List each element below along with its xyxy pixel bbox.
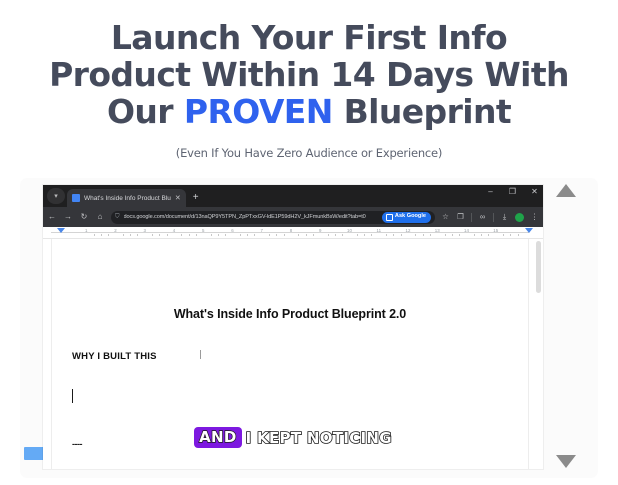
- ruler-right-indent-marker[interactable]: [525, 228, 533, 233]
- address-bar-url: docs.google.com/document/d/13naQP9Y5TPN_…: [124, 214, 378, 220]
- ruler-number: 7: [261, 228, 263, 233]
- ruler-tick: [152, 234, 153, 236]
- minimize-button[interactable]: –: [486, 188, 495, 196]
- ruler-tick: [123, 234, 124, 236]
- ruler-tick: [371, 234, 372, 236]
- caption-highlight-word: AND: [194, 427, 242, 448]
- headline-line-3-suffix: Blueprint: [333, 92, 511, 131]
- ruler-tick: [313, 234, 314, 236]
- ruler-tick: [510, 234, 511, 236]
- ruler-number: 12: [406, 228, 411, 233]
- ruler-number: 11: [376, 228, 381, 233]
- kebab-menu-icon[interactable]: ⋮: [530, 213, 539, 221]
- ruler-tick: [488, 234, 489, 236]
- downloads-icon[interactable]: ⤓: [500, 213, 509, 221]
- ruler-tick: [386, 234, 387, 236]
- ruler-number: 13: [435, 228, 440, 233]
- docs-canvas: What's Inside Info Product Blueprint 2.0…: [43, 239, 543, 469]
- ruler-tick: [130, 234, 131, 236]
- ruler-tick: [298, 234, 299, 236]
- ruler-number: 9: [319, 228, 321, 233]
- browser-toolbar: ← → ↻ ⌂ ⛉ docs.google.com/document/d/13n…: [43, 207, 543, 227]
- scroll-down-triangle-icon[interactable]: [556, 455, 576, 468]
- caption-overlay: AND I KEPT NOTICING: [43, 427, 543, 448]
- browser-tab-strip: ▾ What's Inside Info Product Blu ✕ + – ❐…: [43, 185, 543, 207]
- ruler-tick: [452, 234, 453, 236]
- maximize-button[interactable]: ❐: [508, 188, 517, 196]
- headline-accent-word: PROVEN: [184, 92, 333, 131]
- ruler-tick: [357, 234, 358, 236]
- ruler-tick: [335, 234, 336, 236]
- ruler-tick: [328, 234, 329, 236]
- sparkle-icon: [386, 214, 393, 221]
- ask-google-label: Ask Google: [395, 214, 426, 220]
- toolbar-divider-2: [493, 213, 494, 222]
- ruler-tick: [240, 234, 241, 236]
- headline-line-1: Launch Your First Info: [111, 18, 507, 57]
- hero-section: Launch Your First Info Product Within 14…: [0, 0, 618, 160]
- ruler-left-indent-marker[interactable]: [57, 228, 65, 233]
- ruler-tick: [459, 234, 460, 236]
- docs-favicon-icon: [72, 194, 80, 202]
- docs-ruler[interactable]: 123456789101112131415: [43, 227, 543, 239]
- ruler-tick: [137, 234, 138, 236]
- ruler-number: 3: [144, 228, 146, 233]
- ruler-tick: [518, 234, 519, 236]
- toolbar-divider: [471, 213, 472, 222]
- ruler-tick: [415, 234, 416, 236]
- close-icon[interactable]: ✕: [175, 195, 181, 202]
- ruler-tick: [430, 234, 431, 236]
- document-title: What's Inside Info Product Blueprint 2.0: [52, 307, 528, 321]
- ruler-tick: [254, 234, 255, 236]
- ruler-tick: [269, 234, 270, 236]
- ruler-tick: [481, 234, 482, 236]
- ruler-tick: [196, 234, 197, 236]
- ruler-tick: [101, 234, 102, 236]
- ruler-tick: [342, 234, 343, 236]
- ruler-number: 1: [85, 228, 87, 233]
- ruler-tick: [218, 234, 219, 236]
- ruler-tick: [306, 234, 307, 236]
- ruler-tick: [284, 234, 285, 236]
- new-tab-button[interactable]: +: [193, 193, 199, 203]
- document-heading: WHY I BUILT THIS: [72, 351, 157, 362]
- window-controls: – ❐ ✕: [486, 188, 539, 196]
- browser-tab-title: What's Inside Info Product Blu: [84, 195, 171, 202]
- ruler-tick: [247, 234, 248, 236]
- ruler-number: 6: [231, 228, 233, 233]
- caption-text: I KEPT NOTICING: [246, 429, 392, 447]
- ruler-tick: [503, 234, 504, 236]
- close-window-button[interactable]: ✕: [530, 188, 539, 196]
- chevron-down-icon[interactable]: ▾: [47, 188, 65, 204]
- ruler-number: 8: [290, 228, 292, 233]
- ruler-tick: [401, 234, 402, 236]
- scroll-up-triangle-icon[interactable]: [556, 184, 576, 197]
- ruler-tick: [94, 234, 95, 236]
- ruler-tick: [189, 234, 190, 236]
- browser-tab-active[interactable]: What's Inside Info Product Blu ✕: [67, 189, 186, 207]
- subheadline: (Even If You Have Zero Audience or Exper…: [30, 146, 588, 160]
- ask-google-button[interactable]: Ask Google: [382, 212, 431, 223]
- ruler-number: 5: [202, 228, 204, 233]
- ruler-tick: [364, 234, 365, 236]
- media-panel: ▾ What's Inside Info Product Blu ✕ + – ❐…: [20, 178, 598, 478]
- page-info-icon[interactable]: ⛉: [115, 214, 120, 220]
- ruler-number: 4: [173, 228, 175, 233]
- ruler-tick: [108, 234, 109, 236]
- browser-window: ▾ What's Inside Info Product Blu ✕ + – ❐…: [43, 185, 543, 469]
- avatar[interactable]: [515, 213, 524, 222]
- ruler-tick: [181, 234, 182, 236]
- headline-line-3-prefix: Our: [107, 92, 184, 131]
- ruler-tick: [423, 234, 424, 236]
- ruler-tick: [474, 234, 475, 236]
- ruler-tick: [167, 234, 168, 236]
- address-bar[interactable]: ⛉ docs.google.com/document/d/13naQP9Y5TP…: [111, 211, 435, 224]
- ruler-tick: [159, 234, 160, 236]
- page-title: Launch Your First Info Product Within 14…: [30, 20, 588, 131]
- ruler-number: 2: [114, 228, 116, 233]
- text-cursor: [72, 389, 73, 403]
- ruler-tick: [445, 234, 446, 236]
- ruler-tick: [225, 234, 226, 236]
- ruler-number: 15: [493, 228, 498, 233]
- forward-icon[interactable]: →: [63, 213, 73, 221]
- reload-icon[interactable]: ↻: [79, 213, 89, 221]
- extensions-icon[interactable]: ∞: [478, 213, 487, 221]
- text-cursor-secondary: [200, 350, 201, 359]
- home-icon[interactable]: ⌂: [95, 213, 105, 221]
- ruler-tick: [211, 234, 212, 236]
- ruler-number: 10: [347, 228, 352, 233]
- back-icon[interactable]: ←: [47, 213, 57, 221]
- bookmark-star-icon[interactable]: ☆: [441, 213, 450, 221]
- tab-search-icon[interactable]: ❐: [456, 213, 465, 221]
- ruler-tick: [276, 234, 277, 236]
- vertical-scrollbar-thumb[interactable]: [536, 241, 541, 293]
- headline-line-2: Product Within 14 Days With: [49, 55, 569, 94]
- ruler-tick: [393, 234, 394, 236]
- ruler-number: 14: [464, 228, 469, 233]
